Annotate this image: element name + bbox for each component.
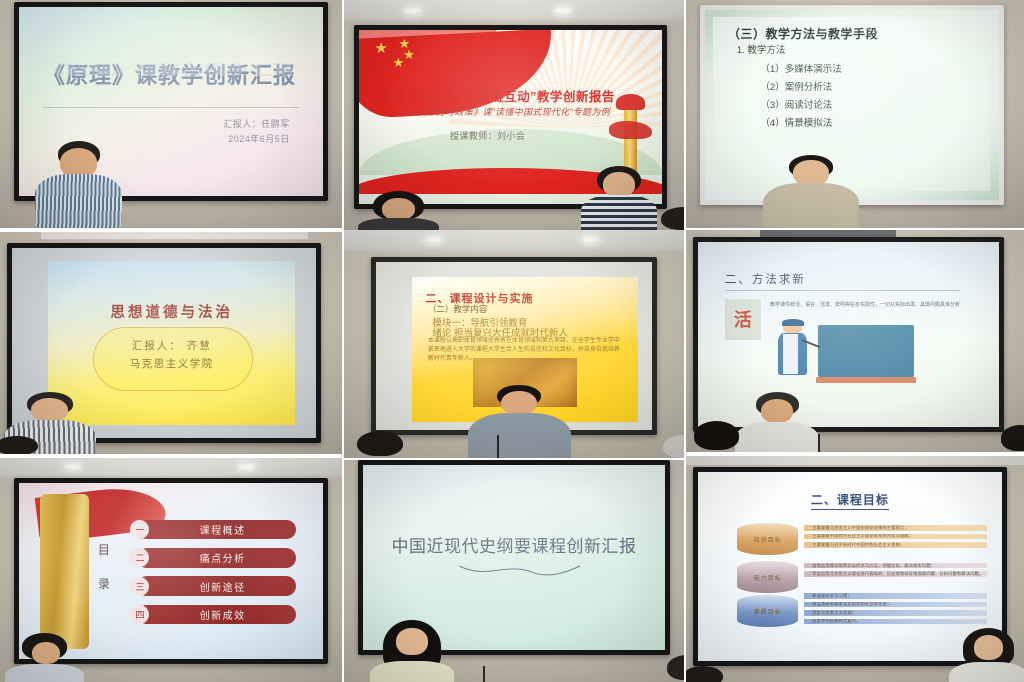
slide-list-item: （4）情景模拟法 [760, 115, 832, 129]
audience-person [14, 633, 76, 682]
collage-panel-8[interactable]: 中国近现代史纲要课程创新汇报 [344, 460, 684, 682]
slide-heading: 二、课程目标 [811, 491, 889, 510]
goal-line: 坚定中华民族伟大复兴。 [804, 619, 987, 625]
speaker-person [589, 166, 650, 230]
microphone-icon [497, 435, 499, 458]
audience-person [364, 191, 432, 230]
star-icon: ★ [392, 56, 404, 69]
microphone-icon [483, 666, 485, 682]
golden-column-illustration [40, 494, 89, 649]
goal-label: 知识目标 [754, 535, 782, 544]
slide-divider [725, 290, 960, 291]
audience-person [689, 421, 743, 452]
ceiling-light-icon [426, 237, 442, 242]
slide-heading: 二、方法求新 [725, 271, 806, 287]
collage-panel-2[interactable]: ★ ★ ★ ★ 基于专题式的“问题链互动”教学创新报告 ——以《形势与政策》课“… [344, 0, 684, 230]
ceiling-light-icon [555, 8, 571, 13]
speaker-person [480, 385, 558, 458]
toc-label: 课程概述 [149, 522, 295, 537]
goal-label: 素质目标 [754, 607, 782, 616]
photo-collage-grid: 《原理》课教学创新汇报 《原理》课教学创新汇报 汇报人：任鹏军 2024年6月5… [0, 0, 1024, 682]
star-icon: ★ [403, 48, 415, 61]
star-icon: ★ [374, 41, 387, 56]
audience-person [660, 435, 684, 458]
collage-panel-6[interactable]: 二、方法求新 活 教学课件鲜活、语言、活泼、鲜明等贴有实践性，一切从实际出发、具… [686, 230, 1024, 452]
toc-item[interactable]: 三 创新途径 [137, 576, 295, 595]
ceiling-light-icon [239, 464, 255, 469]
slide-screen: （三）教学方法与教学手段 1. 教学方法 （1）多媒体演示法 （2）案例分析法 … [705, 10, 999, 201]
toc-number: 二 [130, 548, 149, 567]
slide-heading: （三）教学方法与教学手段 [728, 25, 878, 42]
slide-presenter: 授课教师：刘小会 [450, 129, 525, 142]
projection-screen-frame: （三）教学方法与教学手段 1. 教学方法 （1）多媒体演示法 （2）案例分析法 … [700, 5, 1004, 206]
collage-panel-9[interactable]: 二、课程目标 知识目标 主要掌握马克思主义中国化理论成果的主要观点； 主要掌握中… [686, 456, 1024, 682]
speaker-person [956, 628, 1020, 682]
speaker-person [41, 141, 116, 228]
projection-screen-frame: 二、方法求新 活 教学课件鲜活、语言、活泼、鲜明等贴有实践性，一切从实际出发、具… [693, 237, 1004, 432]
slide-list-item: （1）多媒体演示法 [760, 61, 841, 75]
slide-list-item: （2）案例分析法 [760, 79, 832, 93]
audience-person [657, 207, 684, 230]
keyword-glyph: 活 [734, 306, 752, 332]
slide-title-char: 目 [98, 541, 111, 558]
toc-number: 四 [130, 605, 149, 624]
screen-roller [760, 230, 895, 237]
goal-line: 主要掌握马克思主义中国化理论成果的主要观点； [804, 525, 987, 531]
microphone-icon [818, 434, 820, 452]
slide-presenter: 汇报人： 齐慧 [132, 338, 212, 353]
decorative-swoosh [447, 561, 592, 580]
slide-divider [43, 107, 299, 108]
goal-lines-group: 主要掌握马克思主义中国化理论成果的主要观点； 主要掌握中国特色社会主义理论体系的… [804, 525, 987, 551]
ceiling-light-icon [65, 464, 81, 469]
speaker-person [774, 155, 848, 228]
collage-panel-1[interactable]: 《原理》课教学创新汇报 《原理》课教学创新汇报 汇报人：任鹏军 2024年6月5… [0, 0, 342, 228]
slide-college: 马克思主义学院 [130, 356, 214, 371]
keyword-glyph-box: 活 [725, 299, 761, 340]
blackboard-illustration [818, 325, 914, 377]
goal-line: 主要掌握中国特色社会主义理论体系的内容与理解； [804, 534, 987, 540]
slide-subtitle: ——以《形势与政策》课“读懂中国式现代化”专题为例 [389, 105, 610, 118]
toc-label: 创新成效 [149, 607, 295, 622]
ceiling [344, 230, 684, 253]
ceiling-light-icon [582, 237, 598, 242]
collage-panel-4[interactable]: 思想道德与法治 汇报人： 齐慧 马克思主义学院 [0, 232, 342, 454]
slide-body-text: 教学课件鲜活、语言、活泼、鲜明等贴有实践性，一切从实际出发、具体问题具体分析 [770, 301, 972, 310]
slide-subheading: （二）教学内容 [428, 303, 488, 315]
toc-number: 一 [130, 520, 149, 539]
audience-person [664, 655, 684, 682]
goal-line: 自觉运用理论联系实际的学习方法，把握实际，解决现实问题； [804, 563, 987, 569]
goal-lines-group: 自觉运用理论联系实际的学习方法，把握实际，解决现实问题； 学会运用马克思主义理论… [804, 563, 987, 580]
collage-panel-7[interactable]: 目 录 一 课程概述 二 痛点分析 三 创新途径 四 创新成效 [0, 458, 342, 682]
slide-presenter: 汇报人：任鹏军 [223, 117, 290, 130]
audience-person [686, 666, 727, 682]
goal-line: 学会运用马克思主义理论进行客观的、历史地和辩证地观察问题、分析问题和解决问题。 [804, 571, 987, 577]
toc-number: 三 [130, 577, 149, 596]
audience-person [997, 425, 1024, 452]
goal-label: 能力目标 [754, 573, 782, 582]
goal-line: 主要掌握习近平新时代中国特色社会主义思想。 [804, 542, 987, 548]
slide-list-item: （3）阅读讨论法 [760, 97, 832, 111]
ceiling-strip [686, 456, 1024, 465]
speaker-person [743, 392, 811, 452]
toc-item[interactable]: 四 创新成效 [137, 605, 295, 624]
toc-item[interactable]: 一 课程概述 [137, 520, 295, 539]
toc-label: 创新途径 [149, 579, 295, 594]
toc-item[interactable]: 二 痛点分析 [137, 548, 295, 567]
teacher-illustration [776, 321, 809, 380]
collage-panel-5[interactable]: 二、课程设计与实施 （二）教学内容 模块一：导航引领教育 绪论 担当复兴大任成就… [344, 230, 684, 458]
goal-line: 树立崇高的基本坚定自信和社会责任感； [804, 602, 987, 608]
slide-subheading: 1. 教学方法 [737, 42, 786, 56]
slide-title: 基于专题式的“问题链互动”教学创新报告 [380, 86, 615, 105]
goal-cylinder: 知识目标 [737, 523, 798, 555]
ceiling-light-icon [405, 8, 421, 13]
screen-roller [41, 232, 308, 239]
audience-person [0, 436, 41, 454]
ceiling [344, 0, 684, 23]
collage-panel-3[interactable]: （三）教学方法与教学手段 1. 教学方法 （1）多媒体演示法 （2）案例分析法 … [686, 0, 1024, 228]
slide-title: 中国近现代史纲要课程创新汇报 [391, 532, 636, 557]
slide-date: 2024年6月5日 [228, 132, 290, 145]
ceiling [0, 458, 342, 480]
speaker-person [378, 620, 446, 682]
goal-cylinder: 素质目标 [737, 595, 798, 627]
goal-cylinder: 能力目标 [737, 561, 798, 593]
slide-title-char: 录 [98, 575, 111, 592]
goal-line: 坚定马克思主义信仰； [804, 610, 987, 616]
audience-person [351, 431, 409, 458]
torch-monument-icon [614, 98, 647, 175]
slide-title-reflection: 《原理》课教学创新汇报 [43, 60, 296, 80]
goal-lines-group: 养成理论学习习惯； 树立崇高的基本坚定自信和社会责任感； 坚定马克思主义信仰； … [804, 593, 987, 627]
slide-title: 思想道德与法治 [111, 301, 234, 322]
toc-label: 痛点分析 [149, 550, 295, 565]
goal-line: 养成理论学习习惯； [804, 593, 987, 599]
